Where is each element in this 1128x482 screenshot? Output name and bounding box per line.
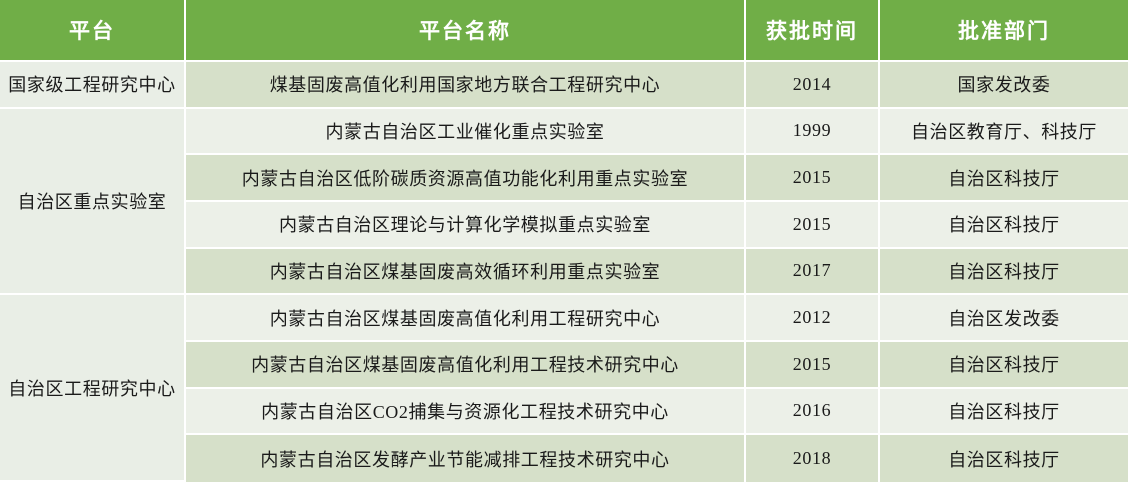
table-body: 国家级工程研究中心煤基固废高值化利用国家地方联合工程研究中心2014国家发改委自…: [0, 62, 1128, 482]
cell-approval-department: 自治区科技厅: [880, 155, 1128, 202]
column-header-platform: 平台: [0, 0, 186, 62]
cell-approval-year: 2017: [746, 249, 880, 296]
group-label-cell: 国家级工程研究中心: [0, 62, 186, 109]
cell-platform-name: 内蒙古自治区发酵产业节能减排工程技术研究中心: [186, 435, 746, 482]
cell-approval-department: 国家发改委: [880, 62, 1128, 109]
platform-table: 平台 平台名称 获批时间 批准部门 国家级工程研究中心煤基固废高值化利用国家地方…: [0, 0, 1128, 482]
cell-approval-department: 自治区科技厅: [880, 249, 1128, 296]
cell-platform-name: 内蒙古自治区煤基固废高效循环利用重点实验室: [186, 249, 746, 296]
cell-approval-department: 自治区教育厅、科技厅: [880, 109, 1128, 156]
cell-approval-department: 自治区科技厅: [880, 342, 1128, 389]
table-row: 自治区工程研究中心内蒙古自治区煤基固废高值化利用工程研究中心2012自治区发改委: [0, 295, 1128, 342]
cell-platform-name: 内蒙古自治区煤基固废高值化利用工程技术研究中心: [186, 342, 746, 389]
cell-approval-year: 2016: [746, 389, 880, 436]
group-label-cell: 自治区重点实验室: [0, 109, 186, 296]
cell-approval-year: 2015: [746, 202, 880, 249]
cell-platform-name: 内蒙古自治区理论与计算化学模拟重点实验室: [186, 202, 746, 249]
column-header-name: 平台名称: [186, 0, 746, 62]
cell-platform-name: 煤基固废高值化利用国家地方联合工程研究中心: [186, 62, 746, 109]
cell-approval-department: 自治区科技厅: [880, 389, 1128, 436]
table-header: 平台 平台名称 获批时间 批准部门: [0, 0, 1128, 62]
table-row: 国家级工程研究中心煤基固废高值化利用国家地方联合工程研究中心2014国家发改委: [0, 62, 1128, 109]
column-header-dept: 批准部门: [880, 0, 1128, 62]
table-row: 自治区重点实验室内蒙古自治区工业催化重点实验室1999自治区教育厅、科技厅: [0, 109, 1128, 156]
cell-approval-year: 2018: [746, 435, 880, 482]
cell-approval-year: 1999: [746, 109, 880, 156]
cell-approval-department: 自治区科技厅: [880, 435, 1128, 482]
cell-approval-year: 2012: [746, 295, 880, 342]
cell-approval-department: 自治区科技厅: [880, 202, 1128, 249]
column-header-year: 获批时间: [746, 0, 880, 62]
group-label-cell: 自治区工程研究中心: [0, 295, 186, 482]
cell-approval-year: 2015: [746, 342, 880, 389]
cell-platform-name: 内蒙古自治区工业催化重点实验室: [186, 109, 746, 156]
cell-approval-year: 2015: [746, 155, 880, 202]
cell-approval-department: 自治区发改委: [880, 295, 1128, 342]
cell-platform-name: 内蒙古自治区煤基固废高值化利用工程研究中心: [186, 295, 746, 342]
cell-platform-name: 内蒙古自治区低阶碳质资源高值功能化利用重点实验室: [186, 155, 746, 202]
header-row: 平台 平台名称 获批时间 批准部门: [0, 0, 1128, 62]
cell-approval-year: 2014: [746, 62, 880, 109]
cell-platform-name: 内蒙古自治区CO2捕集与资源化工程技术研究中心: [186, 389, 746, 436]
